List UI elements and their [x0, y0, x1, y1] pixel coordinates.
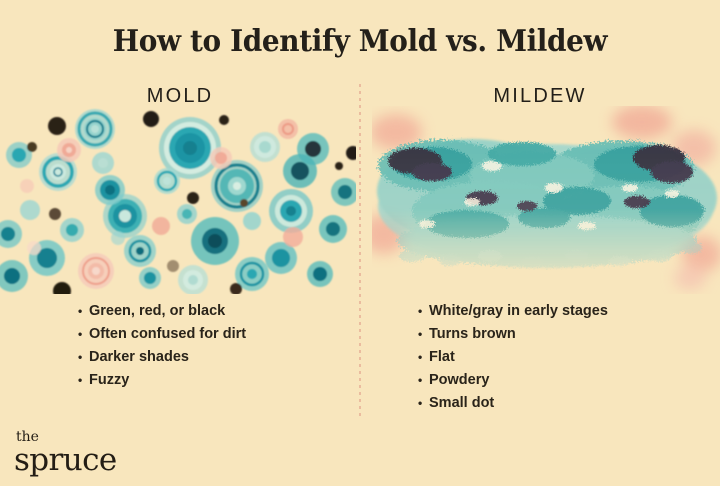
list-item: Small dot — [418, 392, 608, 415]
mold-characteristics-list: Green, red, or black Often confused for … — [78, 300, 246, 392]
column-heading-mildew: MILDEW — [420, 85, 660, 108]
mildew-characteristics-list: White/gray in early stages Turns brown F… — [418, 300, 608, 415]
list-item: Flat — [418, 346, 608, 369]
list-item: Turns brown — [418, 323, 608, 346]
column-divider — [359, 84, 361, 416]
infographic-root: How to Identify Mold vs. Mildew MOLD MIL… — [0, 0, 720, 486]
column-heading-mold: MOLD — [60, 85, 300, 108]
brand-logo: the spruce — [14, 430, 117, 476]
mold-colonies-illustration — [0, 106, 356, 294]
list-item: Fuzzy — [78, 369, 246, 392]
list-item: Often confused for dirt — [78, 323, 246, 346]
mildew-speckle-illustration — [372, 106, 720, 294]
logo-line-spruce: spruce — [14, 445, 117, 476]
list-item: Green, red, or black — [78, 300, 246, 323]
list-item: White/gray in early stages — [418, 300, 608, 323]
list-item: Darker shades — [78, 346, 246, 369]
list-item: Powdery — [418, 369, 608, 392]
page-title: How to Identify Mold vs. Mildew — [25, 24, 695, 59]
